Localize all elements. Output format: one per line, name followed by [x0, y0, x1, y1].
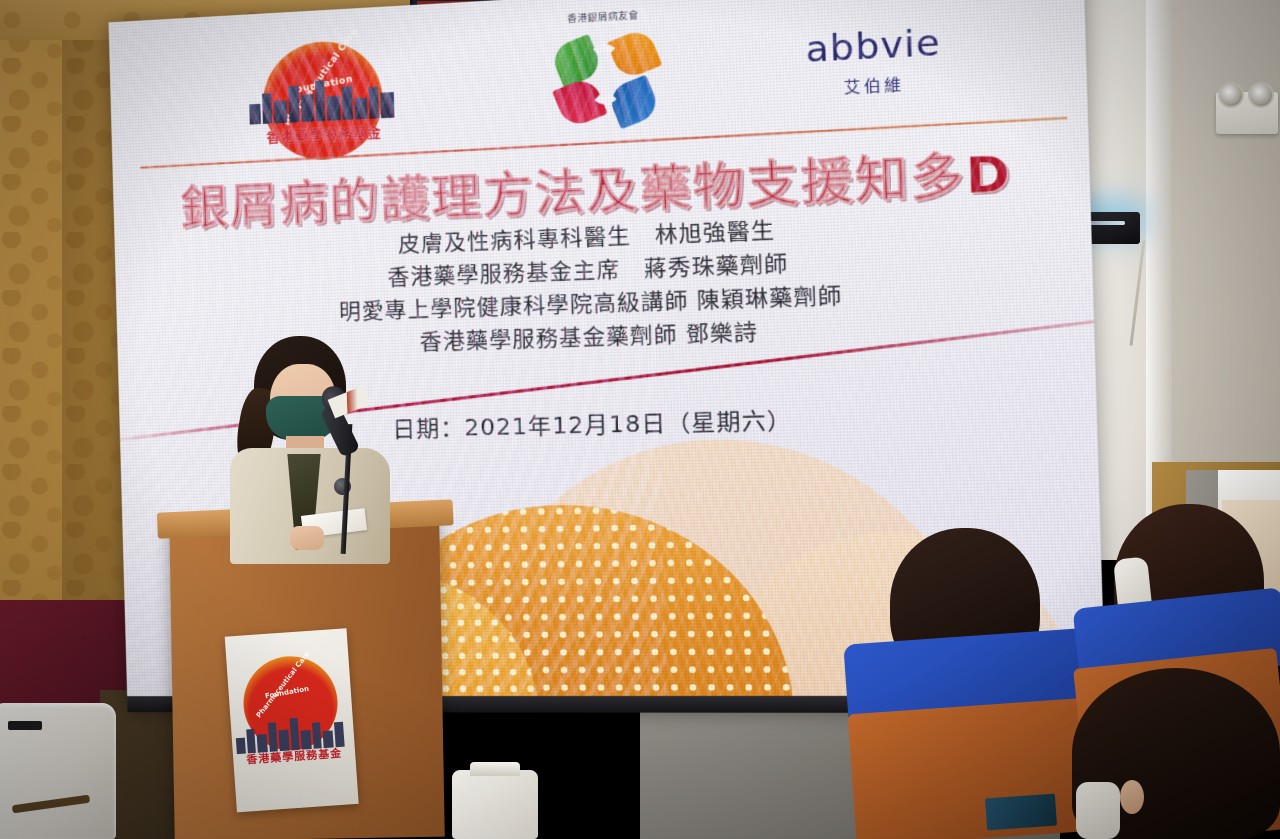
presenter-hand	[290, 526, 324, 550]
far-right-wall	[1172, 0, 1280, 520]
podium-sign: Pharmaceutical Care Foundation 香港藥學服務基金	[225, 628, 359, 812]
water-jug	[452, 770, 538, 839]
abbvie-chinese-name: 艾伯維	[843, 72, 904, 97]
emergency-light-icon	[1216, 92, 1278, 134]
right-wall-corner	[1146, 0, 1172, 520]
podium-arc-line2: Foundation	[264, 685, 309, 701]
water-jug-cap	[470, 762, 520, 776]
auditorium-seat-1	[846, 636, 1096, 839]
association-logo: 香港銀屑病友會	[547, 17, 662, 131]
psa-logo-icon: 香港銀屑病友會	[547, 17, 662, 131]
podium: Pharmaceutical Care Foundation 香港藥學服務基金	[169, 518, 445, 839]
seat-number-plate	[985, 794, 1057, 831]
foundation-logo: Pharmaceutical Care Foundation	[235, 31, 410, 145]
abbvie-wordmark: abbvie	[805, 21, 941, 71]
photo-scene: Pharmaceutical Care Foundation	[0, 0, 1280, 839]
pcf-chinese-name: 香港藥學服務基金	[238, 120, 411, 147]
psa-chinese-name: 香港銀屑病友會	[567, 8, 639, 25]
seat-frame	[848, 698, 1095, 839]
psa-center-s	[588, 43, 622, 105]
sponsor-logo: abbvie 艾伯維	[805, 21, 942, 99]
pcf-logo-icon: Pharmaceutical Care Foundation	[235, 31, 410, 145]
pcf-skyline-icon	[247, 70, 400, 124]
presenter	[216, 336, 396, 556]
air-purifier-icon[interactable]	[0, 703, 116, 839]
audience-mask-3	[1076, 782, 1120, 839]
audience-ear-3	[1120, 780, 1144, 814]
